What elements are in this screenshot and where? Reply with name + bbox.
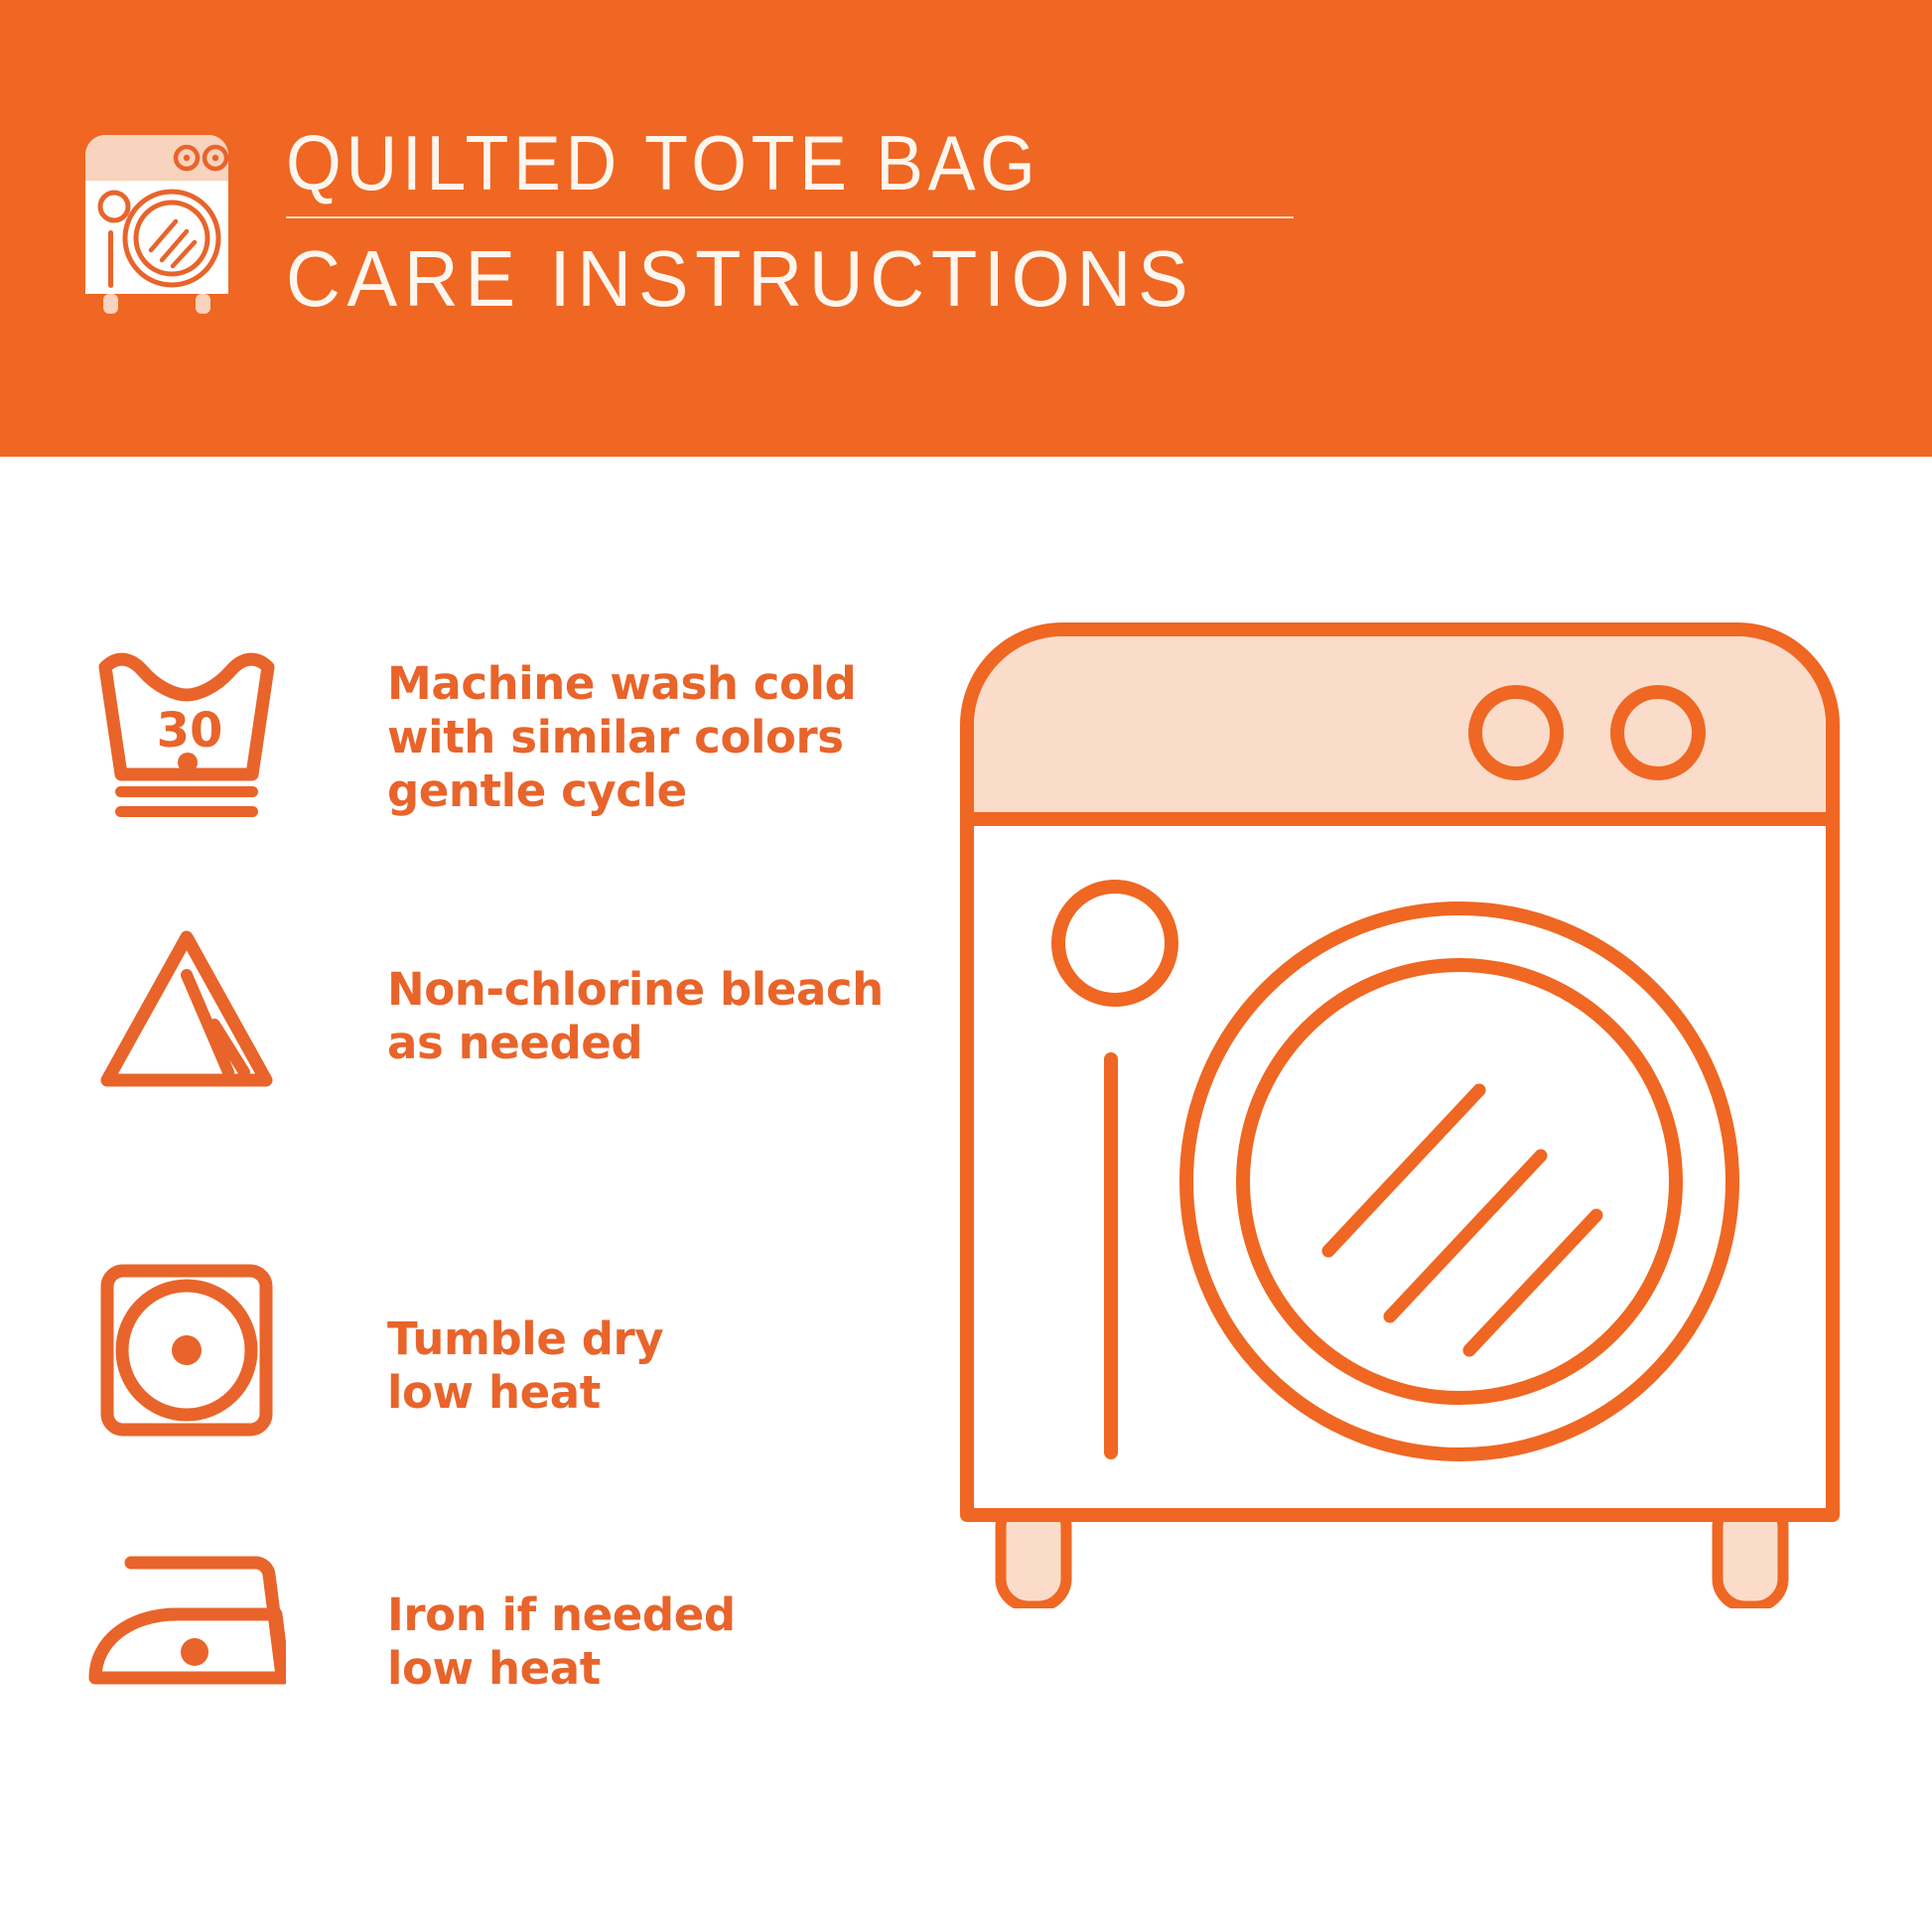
washer-knob-left [1475,692,1557,773]
page-title-secondary: CARE INSTRUCTIONS [286,236,1267,322]
washing-machine-illustration [953,616,1876,1608]
care-instructions-poster: QUILTED TOTE BAG CARE INSTRUCTIONS 30 Ma… [0,0,1932,1932]
title-divider [286,216,1294,218]
care-item-wash: 30 Machine wash cold with similar colors… [0,635,953,854]
care-line: Iron if needed [387,1588,736,1642]
care-line: Non-chlorine bleach [387,963,884,1017]
non-chlorine-bleach-triangle-icon [87,913,286,1112]
care-item-iron: Iron if needed low heat [0,1529,953,1747]
care-item-wash-text: Machine wash cold with similar colors ge… [387,657,856,818]
wash-tub-30-gentle-icon: 30 [87,635,286,834]
tumble-dry-low-icon [87,1251,286,1449]
care-item-bleach: Non-chlorine bleach as needed [0,913,953,1132]
care-line: as needed [387,1017,884,1070]
care-line: low heat [387,1366,663,1420]
care-line: low heat [387,1642,736,1696]
care-line: Tumble dry [387,1312,663,1366]
iron-low-heat-icon [87,1529,286,1727]
page-title-primary: QUILTED TOTE BAG [286,121,1236,205]
wash-temperature-label: 30 [157,703,223,759]
care-line: Machine wash cold [387,657,856,711]
care-item-bleach-text: Non-chlorine bleach as needed [387,963,884,1070]
care-item-iron-text: Iron if needed low heat [387,1588,736,1696]
care-line: gentle cycle [387,764,856,818]
header-title-block: QUILTED TOTE BAG CARE INSTRUCTIONS [286,121,1318,322]
washer-knob-right [1617,692,1699,773]
care-item-tumble-dry-text: Tumble dry low heat [387,1312,663,1420]
washing-machine-icon [77,127,236,316]
care-item-tumble-dry: Tumble dry low heat [0,1251,953,1469]
washer-vertical-bar [1104,1052,1118,1459]
header-banner: QUILTED TOTE BAG CARE INSTRUCTIONS [0,0,1932,457]
care-line: with similar colors [387,711,856,764]
